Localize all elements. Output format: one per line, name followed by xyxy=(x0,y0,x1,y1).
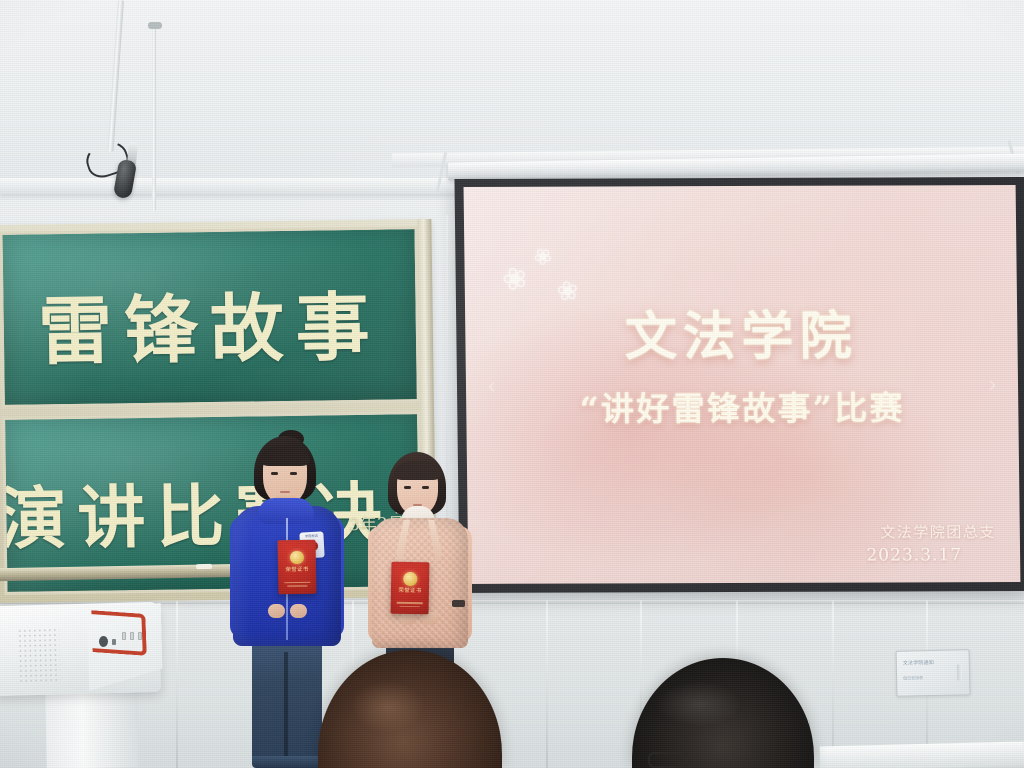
certificate-left: 荣誉证书 xyxy=(278,540,317,595)
slide-organization: 文法学院团总支 xyxy=(880,521,996,542)
wall-seam xyxy=(832,600,834,768)
lectern-volume-knob[interactable] xyxy=(99,636,108,647)
certificate-label: 荣誉证书 xyxy=(391,586,429,595)
wall-seam xyxy=(546,600,548,768)
eyeglasses xyxy=(648,752,690,768)
certificate-rule xyxy=(400,606,420,608)
eye-right xyxy=(422,486,429,489)
lectern-button[interactable] xyxy=(122,632,126,640)
mouth xyxy=(280,491,290,493)
certificate-seal-icon xyxy=(403,572,417,586)
slide-title: 文法学院 xyxy=(465,293,1018,370)
eye-left xyxy=(271,472,278,475)
slide-prev-arrow-icon[interactable]: ‹ xyxy=(488,373,496,399)
eye-right xyxy=(290,472,297,475)
certificate-right: 荣誉证书 xyxy=(391,562,430,615)
wall-notice-panel: 文法学院通知 值日安排表 xyxy=(896,649,971,697)
desk-edge xyxy=(820,742,1024,768)
dove-icon: ❀ xyxy=(530,243,557,271)
lectern-button[interactable] xyxy=(138,632,142,640)
certificate-rule xyxy=(287,585,307,587)
speaker-grille xyxy=(17,627,60,684)
lectern-base xyxy=(45,687,138,768)
wall-notice-body: 值日安排表 xyxy=(903,675,923,681)
chalk-piece xyxy=(196,564,212,569)
blackboard-title-line1: 雷锋故事 xyxy=(3,267,416,380)
slide-date: 2023.3.17 xyxy=(866,545,962,565)
hand-left xyxy=(268,604,285,618)
jeans-seam xyxy=(284,652,288,768)
ceiling-beam xyxy=(0,178,460,194)
hair-bangs xyxy=(260,446,310,466)
certificate-rule xyxy=(397,602,423,604)
projection-screen: ❀ ❀ ❀ 文法学院 “讲好雷锋故事”比赛 文法学院团总支 2023.3.17 … xyxy=(454,177,1024,593)
lectern-button[interactable] xyxy=(130,632,134,640)
wristwatch xyxy=(452,600,465,607)
certificate-rule xyxy=(284,581,310,583)
school-badge-label: 学院标志 xyxy=(301,532,321,538)
certificate-seal-icon xyxy=(290,551,304,565)
certificate-label: 荣誉证书 xyxy=(278,565,316,574)
slide-next-arrow-icon[interactable]: › xyxy=(989,371,997,397)
wall-seam xyxy=(176,600,178,768)
projection-screen-surface: ❀ ❀ ❀ 文法学院 “讲好雷锋故事”比赛 文法学院团总支 2023.3.17 … xyxy=(464,185,1021,584)
photo-scene: 雷锋故事 演讲比赛决赛 3年3月 学院 ❀ ❀ ❀ 文法学院 “讲好雷锋故事”比… xyxy=(0,0,1024,768)
hair-bangs xyxy=(394,461,441,480)
wall-notice-handle xyxy=(957,664,962,680)
ceiling-rod xyxy=(152,26,156,211)
blackboard-panel-top: 雷锋故事 xyxy=(0,226,420,408)
jeans-hem xyxy=(252,756,322,768)
lectern-led-indicator xyxy=(112,639,116,645)
dove-icon: ❀ xyxy=(499,262,532,298)
hand-right xyxy=(290,604,307,618)
wall-notice-heading: 文法学院通知 xyxy=(903,659,934,667)
eye-left xyxy=(404,486,411,489)
ceiling-rod-mount xyxy=(148,22,162,29)
slide-subtitle: “讲好雷锋故事”比赛 xyxy=(466,381,1019,431)
